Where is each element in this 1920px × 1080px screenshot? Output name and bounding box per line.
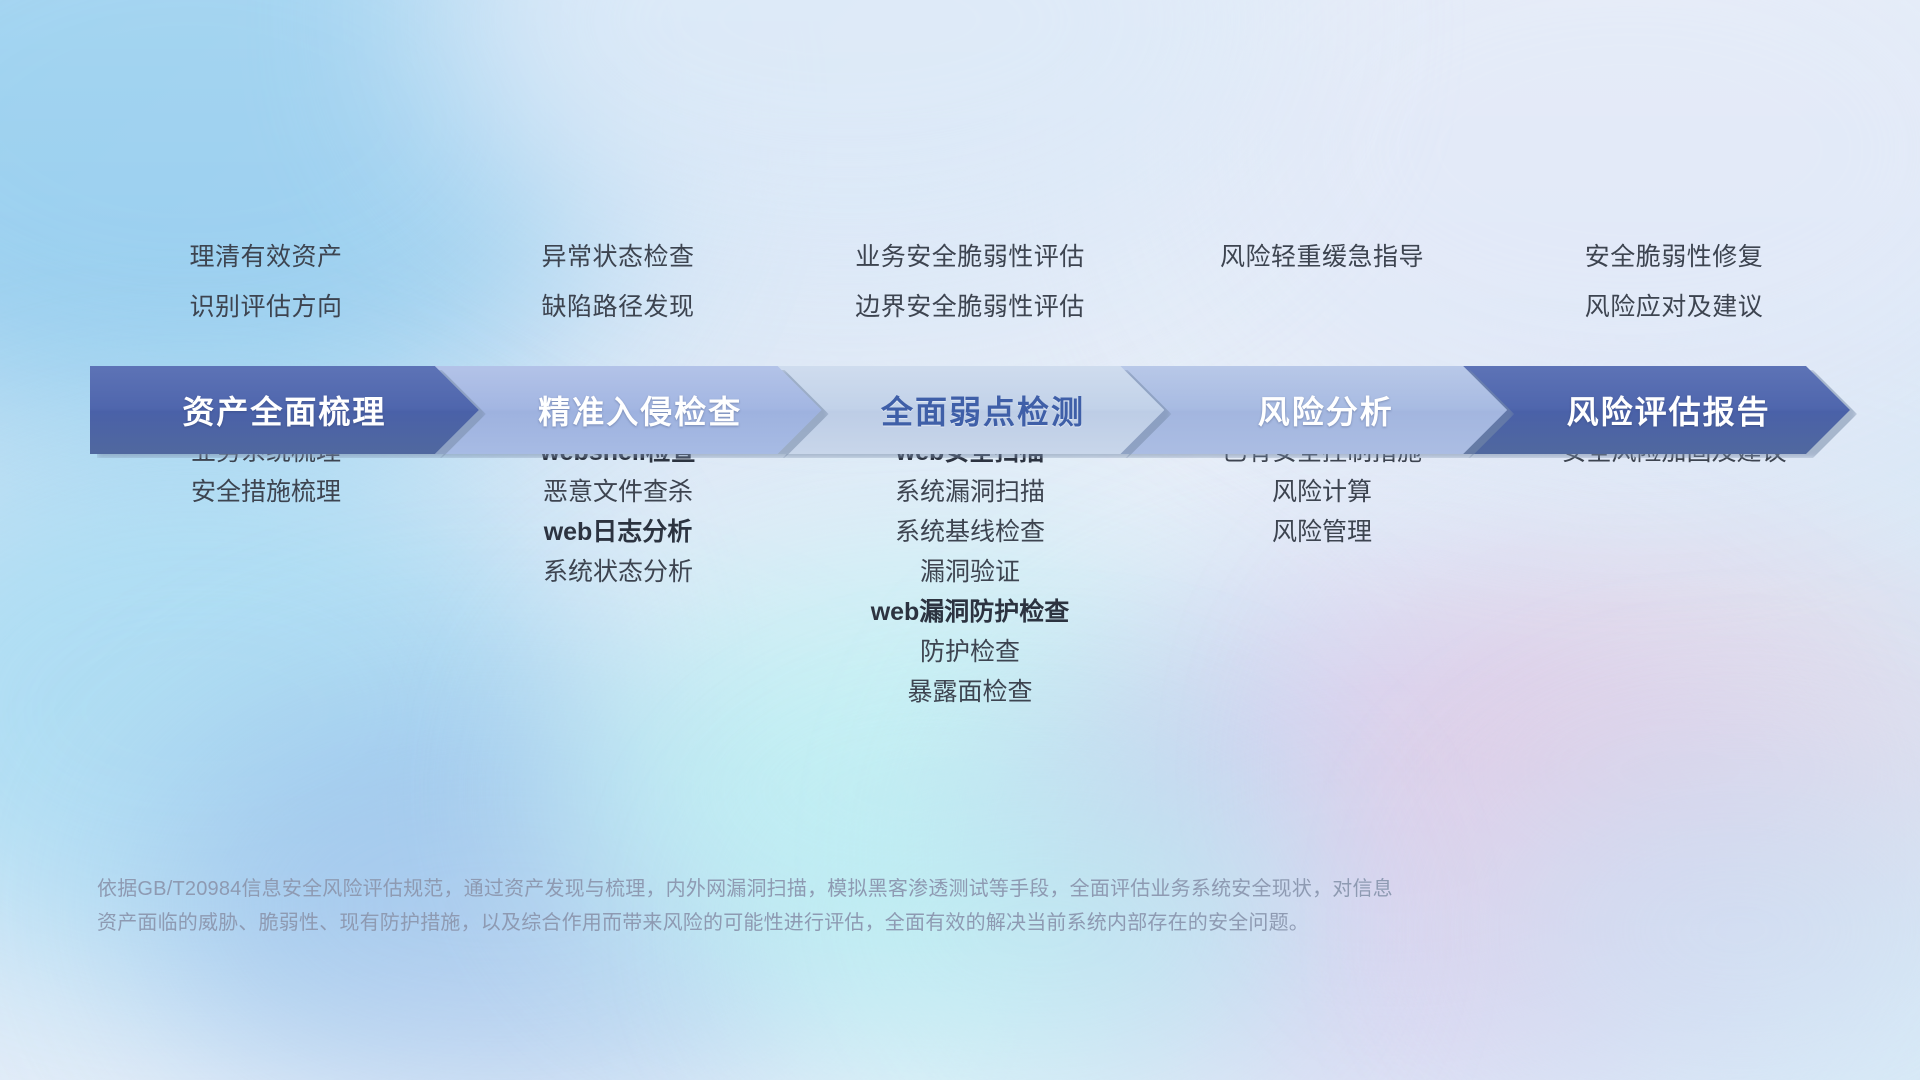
process-step-arrow[interactable]: 风险分析 — [1118, 366, 1507, 454]
footer-line-2: 资产面临的威胁、脆弱性、现有防护措施，以及综合作用而带来风险的可能性进行评估，全… — [97, 906, 1657, 940]
top-note: 缺陷路径发现 — [442, 282, 794, 332]
bottom-items-column: 已有安全控制措施风险计算风险管理 — [1146, 432, 1498, 712]
top-note: 风险应对及建议 — [1498, 282, 1850, 332]
top-notes-column: 安全脆弱性修复风险应对及建议 — [1498, 232, 1850, 332]
bottom-item: 系统漏洞扫描 — [794, 472, 1146, 512]
bottom-item: 风险管理 — [1146, 512, 1498, 552]
bottom-item: 暴露面检查 — [794, 672, 1146, 712]
process-step-label: 资产全面梳理 — [182, 387, 386, 433]
top-notes-row: 理清有效资产识别评估方向异常状态检查缺陷路径发现业务安全脆弱性评估边界安全脆弱性… — [90, 232, 1850, 332]
top-note: 安全脆弱性修复 — [1498, 232, 1850, 282]
top-note: 异常状态检查 — [442, 232, 794, 282]
slide-content: 理清有效资产识别评估方向异常状态检查缺陷路径发现业务安全脆弱性评估边界安全脆弱性… — [0, 0, 1920, 1080]
top-note: 识别评估方向 — [90, 282, 442, 332]
process-arrow-band: 资产全面梳理精准入侵检查全面弱点检测风险分析风险评估报告 — [90, 366, 1850, 454]
bottom-item: web日志分析 — [442, 512, 794, 552]
process-step-label: 精准入侵检查 — [538, 387, 742, 433]
process-step-label: 全面弱点检测 — [881, 387, 1085, 433]
bottom-items-column: webshell检查恶意文件查杀web日志分析系统状态分析 — [442, 432, 794, 712]
top-notes-column: 业务安全脆弱性评估边界安全脆弱性评估 — [794, 232, 1146, 332]
top-notes-column: 理清有效资产识别评估方向 — [90, 232, 442, 332]
bottom-item: 风险计算 — [1146, 472, 1498, 512]
process-step-label: 风险分析 — [1258, 387, 1394, 433]
top-note: 理清有效资产 — [90, 232, 442, 282]
bottom-item: 漏洞验证 — [794, 552, 1146, 592]
top-note: 边界安全脆弱性评估 — [794, 282, 1146, 332]
bottom-items-column: 安全风险加固及建议 — [1498, 432, 1850, 712]
top-note: 业务安全脆弱性评估 — [794, 232, 1146, 282]
bottom-item: 安全措施梳理 — [90, 472, 442, 512]
bottom-item: 系统基线检查 — [794, 512, 1146, 552]
bottom-items-column: web安全扫描系统漏洞扫描系统基线检查漏洞验证web漏洞防护检查防护检查暴露面检… — [794, 432, 1146, 712]
top-notes-column: 风险轻重缓急指导 — [1146, 232, 1498, 332]
bottom-items-column: 业务系统梳理安全措施梳理 — [90, 432, 442, 712]
bottom-items-row: 业务系统梳理安全措施梳理webshell检查恶意文件查杀web日志分析系统状态分… — [90, 432, 1850, 712]
process-step-arrow[interactable]: 资产全面梳理 — [90, 366, 479, 454]
top-note: 风险轻重缓急指导 — [1146, 232, 1498, 282]
bottom-item: 系统状态分析 — [442, 552, 794, 592]
process-step-arrow[interactable]: 全面弱点检测 — [776, 366, 1165, 454]
process-step-arrow[interactable]: 精准入侵检查 — [433, 366, 822, 454]
infographic-slide: 理清有效资产识别评估方向异常状态检查缺陷路径发现业务安全脆弱性评估边界安全脆弱性… — [0, 0, 1920, 1080]
footer-description: 依据GB/T20984信息安全风险评估规范，通过资产发现与梳理，内外网漏洞扫描，… — [97, 872, 1657, 940]
process-step-arrow[interactable]: 风险评估报告 — [1461, 366, 1850, 454]
top-notes-column: 异常状态检查缺陷路径发现 — [442, 232, 794, 332]
bottom-item: 防护检查 — [794, 632, 1146, 672]
footer-line-1: 依据GB/T20984信息安全风险评估规范，通过资产发现与梳理，内外网漏洞扫描，… — [97, 872, 1657, 906]
bottom-item: 恶意文件查杀 — [442, 472, 794, 512]
bottom-item: web漏洞防护检查 — [794, 592, 1146, 632]
process-step-label: 风险评估报告 — [1567, 387, 1771, 433]
